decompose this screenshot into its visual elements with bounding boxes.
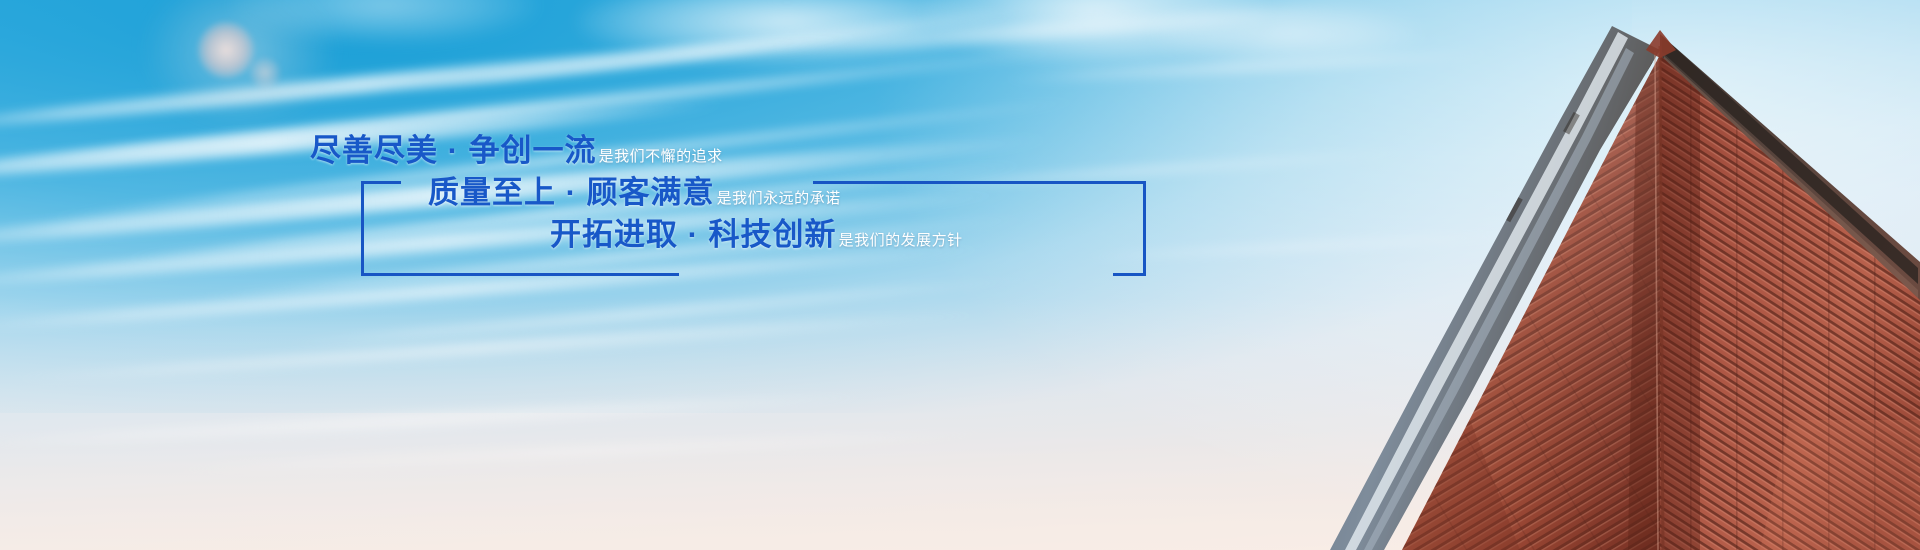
slogan-line-2: 质量至上 · 顾客满意 是我们永远的承诺	[428, 167, 841, 212]
slogan-line-1-secondary: 是我们不懈的追求	[599, 145, 723, 166]
slogan-line-3-secondary: 是我们的发展方针	[839, 229, 963, 250]
frame-bottom-right-segment	[1113, 273, 1146, 276]
slogan-line-1: 尽善尽美 · 争创一流 是我们不懈的追求	[310, 125, 723, 170]
building-face-right	[1640, 40, 1920, 550]
slogan-line-3: 开拓进取 · 科技创新 是我们的发展方针	[550, 209, 963, 254]
frame-bottom-left-segment	[361, 273, 679, 276]
slogan-text-block: 尽善尽美 · 争创一流 是我们不懈的追求 质量至上 · 顾客满意 是我们永远的承…	[300, 125, 1160, 260]
slogan-line-3-primary: 开拓进取 · 科技创新	[550, 209, 837, 254]
slogan-line-2-secondary: 是我们永远的承诺	[717, 187, 841, 208]
banner-hero: 尽善尽美 · 争创一流 是我们不懈的追求 质量至上 · 顾客满意 是我们永远的承…	[0, 0, 1920, 550]
slogan-line-1-primary: 尽善尽美 · 争创一流	[310, 125, 597, 170]
slogan-line-2-primary: 质量至上 · 顾客满意	[428, 167, 715, 212]
